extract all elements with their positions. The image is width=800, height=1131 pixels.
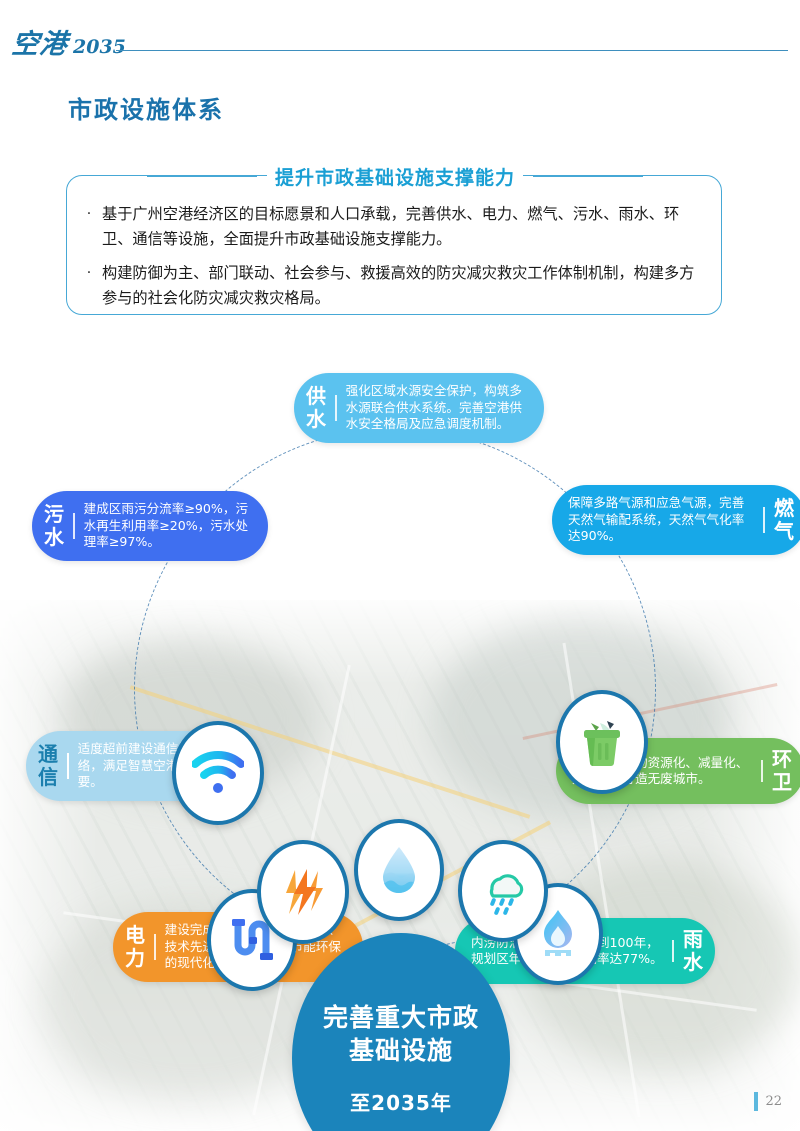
page-title: 市政设施体系 [68,90,224,125]
page-number-bar [754,1092,758,1111]
node-label-sanitation: 环卫 [772,748,792,794]
node-pod-water-supply[interactable]: 供水 强化区域水源安全保护，构筑多水源联合供水系统。完善空港供水安全格局及应急调… [294,373,544,443]
icon-bubble-sanitation[interactable] [556,690,648,794]
label-separator [761,760,763,782]
node-desc-sewage: 建成区雨污分流率≥90%，污水再生利用率≥20%，污水处理率≥97%。 [84,501,254,551]
node-label-electricity: 电力 [125,924,145,970]
icon-bubble-water-supply[interactable] [354,819,444,921]
bullet-marker: · [85,202,93,252]
trash-bin-icon [577,717,627,767]
label-separator [672,940,674,962]
icon-bubble-rainwater[interactable] [458,840,548,942]
list-item: · 基于广州空港经济区的目标愿景和人口承载，完善供水、电力、燃气、污水、雨水、环… [85,202,707,252]
logo-text-cn: 空港 [10,22,70,61]
callout-rule-left [147,175,257,177]
callout-title: 提升市政基础设施支撑能力 [267,163,523,190]
document-page: 空港 2035 市政设施体系 提升市政基础设施支撑能力 · 基于广州空港经济区的… [0,0,800,1131]
icon-bubble-communication[interactable] [172,721,264,825]
callout-bullet-list: · 基于广州空港经济区的目标愿景和人口承载，完善供水、电力、燃气、污水、雨水、环… [85,202,707,320]
bullet-text: 基于广州空港经济区的目标愿景和人口承载，完善供水、电力、燃气、污水、雨水、环卫、… [102,202,707,252]
node-label-water-supply: 供水 [306,385,326,431]
node-label-communication: 通信 [38,743,58,789]
header-divider [116,50,788,51]
page-number-text: 22 [765,1094,782,1109]
list-item: · 构建防御为主、部门联动、社会参与、救援高效的防灾减灾救灾工作体制机制，构建多… [85,261,707,311]
infrastructure-diagram: 供水 强化区域水源安全保护，构筑多水源联合供水系统。完善空港供水安全格局及应急调… [0,345,800,1131]
logo-text-year: 2035 [73,36,126,58]
node-desc-gas: 保障多路气源和应急气源，完善天然气输配系统，天然气气化率达90%。 [568,495,754,545]
center-title: 完善重大市政基础设施 [323,1001,479,1067]
node-label-gas: 燃气 [774,497,794,543]
page-header: 空港 2035 [0,0,800,70]
rain-cloud-icon [479,867,527,915]
label-separator [67,753,69,779]
node-pod-sewage[interactable]: 污水 建成区雨污分流率≥90%，污水再生利用率≥20%，污水处理率≥97%。 [32,491,268,561]
page-number: 22 [754,1092,782,1111]
node-label-sewage: 污水 [44,503,64,549]
bullet-text: 构建防御为主、部门联动、社会参与、救援高效的防灾减灾救灾工作体制机制，构建多方参… [102,261,707,311]
water-drop-icon [379,845,419,895]
callout-rule-right [533,175,643,177]
icon-bubble-electricity[interactable] [257,840,349,944]
lightning-bolt-icon [278,867,328,917]
bullet-marker: · [85,261,93,311]
center-subtitle: 至2035年 [350,1087,452,1116]
label-separator [763,507,765,533]
node-label-rainwater: 雨水 [683,928,703,974]
label-separator [73,513,75,539]
label-separator [154,934,156,960]
callout-title-row: 提升市政基础设施支撑能力 [67,161,723,191]
wifi-icon [192,751,244,795]
node-desc-water-supply: 强化区域水源安全保护，构筑多水源联合供水系统。完善空港供水安全格局及应急调度机制… [346,383,530,433]
callout-box: 提升市政基础设施支撑能力 · 基于广州空港经济区的目标愿景和人口承载，完善供水、… [66,175,722,315]
brand-logo: 空港 2035 [12,22,126,61]
label-separator [335,395,337,421]
node-pod-gas[interactable]: 保障多路气源和应急气源，完善天然气输配系统，天然气气化率达90%。 燃气 [552,485,800,555]
